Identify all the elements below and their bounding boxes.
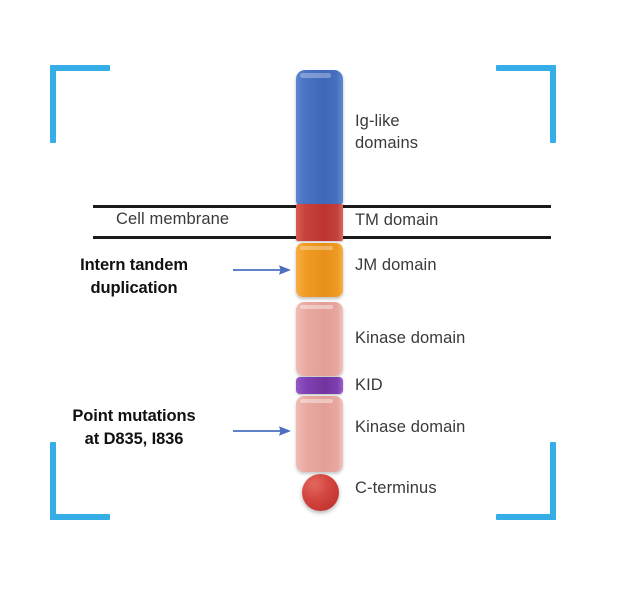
domain-label-kid: KID [355,375,383,397]
domain-label-ig-like: Ig-like domains [355,111,418,155]
domain-label-c-terminus: C-terminus [355,478,437,500]
corner-bracket-bottom-right [496,442,556,520]
domain-block-jm [296,243,343,297]
domain-label-jm: JM domain [355,255,437,277]
bracket-arm-vertical [50,442,56,520]
corner-bracket-top-right [496,65,556,143]
domain-block-c-terminus [302,474,339,511]
bracket-arm-horizontal [496,65,556,71]
corner-bracket-top-left [50,65,110,143]
bracket-arm-vertical [550,65,556,143]
domain-block-kinase-1 [296,302,343,376]
annotation-internal-tandem-duplication: Intern tandem duplication [58,254,210,300]
bracket-arm-horizontal [50,65,110,71]
bracket-arm-vertical [550,442,556,520]
annotation-point-mutations: Point mutations at D835, I836 [53,405,215,451]
diagram-canvas: Cell membrane Ig-like domains TM domain … [0,0,633,599]
domain-block-tm [296,204,343,241]
domain-block-kid [296,377,343,394]
bracket-arm-vertical [50,65,56,143]
cell-membrane-label: Cell membrane [116,210,229,229]
bracket-arm-horizontal [50,514,110,520]
right-arrow-icon [233,424,291,438]
domain-label-kinase-2: Kinase domain [355,417,465,439]
domain-block-kinase-2 [296,396,343,472]
right-arrow-icon [233,263,291,277]
domain-label-tm: TM domain [355,210,438,232]
domain-label-kinase-1: Kinase domain [355,328,465,350]
domain-block-ig-like [296,70,343,205]
bracket-arm-horizontal [496,514,556,520]
corner-bracket-bottom-left [50,442,110,520]
